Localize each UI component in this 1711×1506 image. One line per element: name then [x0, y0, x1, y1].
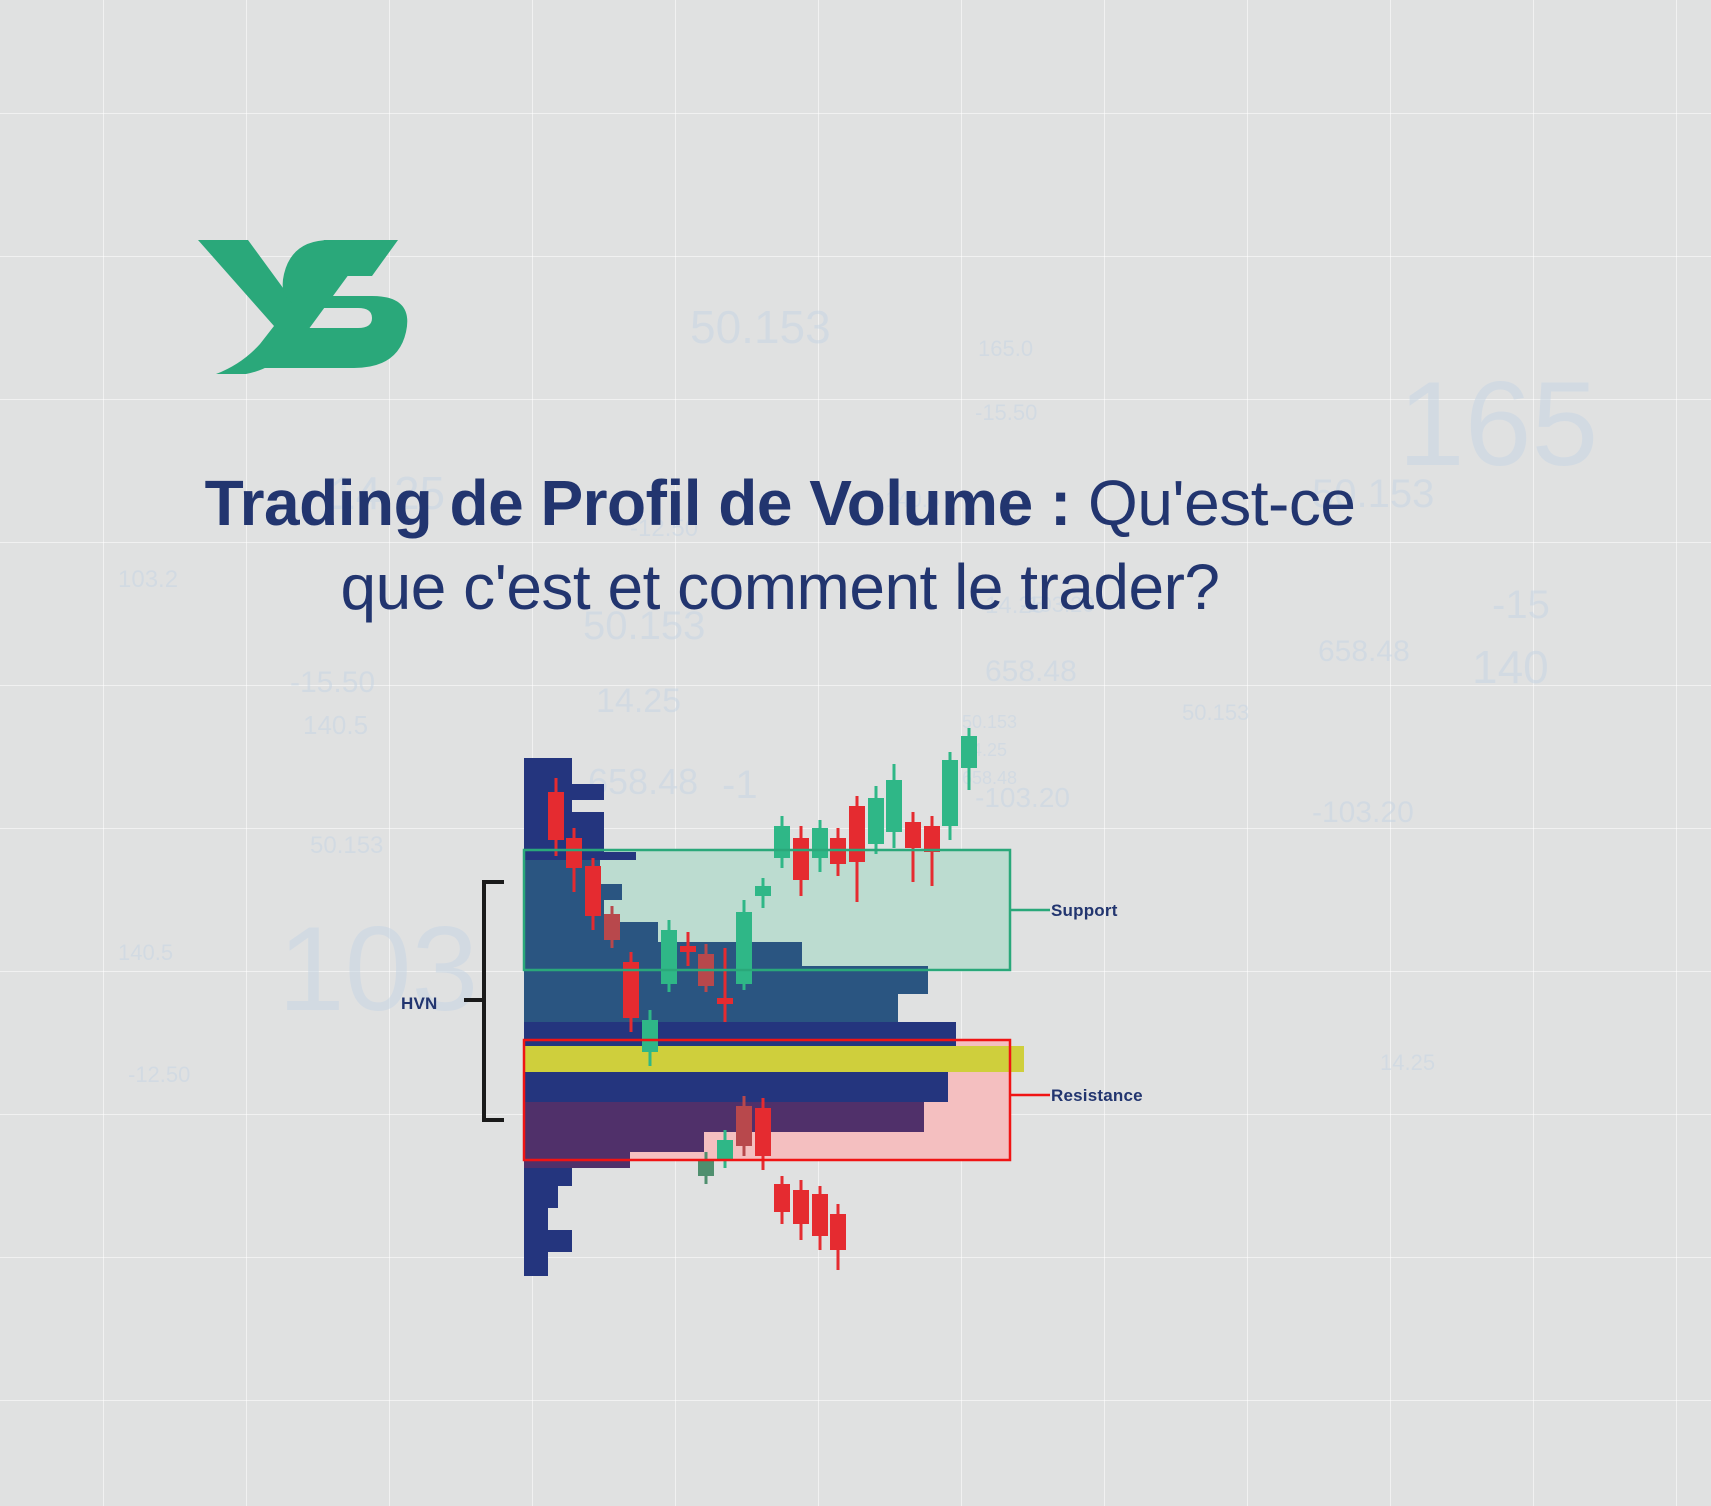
support-label: Support [1051, 901, 1118, 921]
candlestick [830, 1204, 846, 1270]
candlestick [774, 1176, 790, 1224]
xs-logo-mark [198, 240, 407, 374]
title-bold-segment: Trading de Profil de Volume : [205, 467, 1071, 539]
watermark-number: 165.0 [978, 336, 1033, 362]
volume-profile-bar [524, 1072, 948, 1102]
watermark-number: 140.5 [303, 710, 368, 741]
volume-profile-bar [524, 1168, 572, 1186]
volume-profile-bar [524, 1208, 548, 1230]
volume-profile-bar [524, 758, 572, 784]
candlestick [886, 764, 902, 848]
watermark-number: -103.20 [1312, 796, 1414, 830]
candlestick [736, 900, 752, 990]
volume-profile-bar [524, 1132, 704, 1152]
watermark-number: 50.153 [310, 832, 383, 860]
watermark-number: 50.153 [1182, 700, 1249, 726]
xs-logo [176, 234, 412, 376]
hvn-bracket [464, 882, 504, 1120]
volume-profile-bar [524, 1186, 558, 1208]
watermark-number: 140 [1472, 640, 1549, 694]
hvn-label: HVN [401, 994, 438, 1014]
watermark-number: -15.50 [975, 400, 1037, 426]
candlestick [661, 920, 677, 992]
candlestick [942, 752, 958, 840]
volume-profile-bar [524, 1102, 924, 1132]
volume-profile-bar [524, 922, 658, 942]
volume-profile-chart [460, 600, 1160, 1390]
candlestick [961, 728, 977, 790]
volume-profile-bar [524, 1046, 1024, 1072]
candlestick [868, 786, 884, 854]
title-regular-segment: Qu'est-ce [1071, 467, 1356, 539]
watermark-number: 14.25 [1380, 1050, 1435, 1076]
candlestick [793, 1180, 809, 1240]
watermark-number: 140.5 [118, 940, 173, 966]
watermark-number: 103 [278, 900, 478, 1038]
candlestick [812, 1186, 828, 1250]
resistance-label: Resistance [1051, 1086, 1143, 1106]
volume-profile-bar [524, 1252, 548, 1276]
volume-profile-bar [524, 1230, 572, 1252]
watermark-number: 658.48 [1318, 635, 1410, 669]
watermark-number: -15.50 [290, 666, 375, 700]
volume-profile-bar [524, 994, 898, 1022]
watermark-number: 50.153 [690, 300, 831, 354]
volume-profile-bar [524, 1022, 956, 1046]
watermark-number: -12.50 [128, 1062, 190, 1088]
